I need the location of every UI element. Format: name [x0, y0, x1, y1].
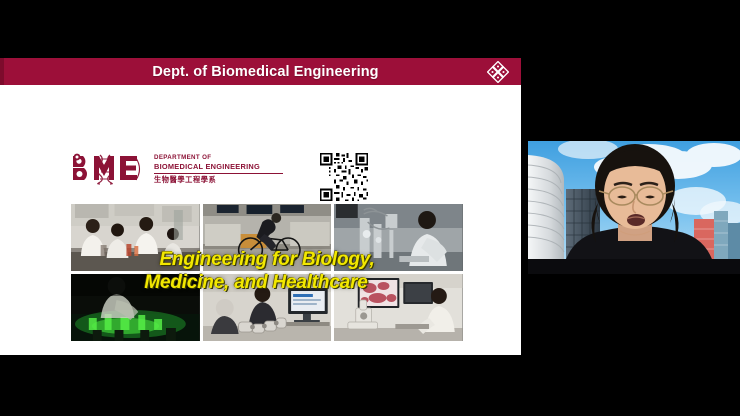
bme-wordmark-logo-icon	[70, 153, 148, 185]
letterbox-bottom	[0, 355, 740, 416]
department-line-chinese: 生物醫學工程學系	[154, 175, 286, 185]
photo-rehab-robot	[203, 274, 332, 341]
letterbox-webcam-top	[528, 58, 740, 141]
slide-header-title: Dept. of Biomedical Engineering	[152, 64, 378, 80]
screen-share-window: Dept. of Biomedical Engineering	[0, 0, 740, 416]
photo-cycling-gait-lab	[203, 204, 332, 271]
photo-microscopy-imaging	[334, 274, 463, 341]
letterbox-webcam-bottom	[528, 274, 740, 355]
shared-slide: Dept. of Biomedical Engineering	[0, 58, 521, 355]
department-logo-row: DEPARTMENT OF BIOMEDICAL ENGINEERING 生物醫…	[70, 151, 501, 197]
qr-code-icon[interactable]	[318, 151, 370, 203]
presenter-video-tile[interactable]	[528, 141, 740, 274]
polyu-diamond-logo-icon	[487, 61, 509, 83]
photo-mosaic	[71, 204, 463, 341]
photo-laser-optics	[71, 274, 200, 341]
department-name-block: DEPARTMENT OF BIOMEDICAL ENGINEERING 生物醫…	[154, 154, 286, 185]
photo-lab-students	[71, 204, 200, 271]
slide-header-bar: Dept. of Biomedical Engineering	[4, 58, 521, 85]
photo-researcher-bench	[334, 204, 463, 271]
department-line-1: DEPARTMENT OF	[154, 154, 286, 162]
department-line-2: BIOMEDICAL ENGINEERING	[154, 162, 283, 174]
letterbox-webcam-left	[521, 58, 528, 355]
letterbox-top	[0, 0, 740, 58]
